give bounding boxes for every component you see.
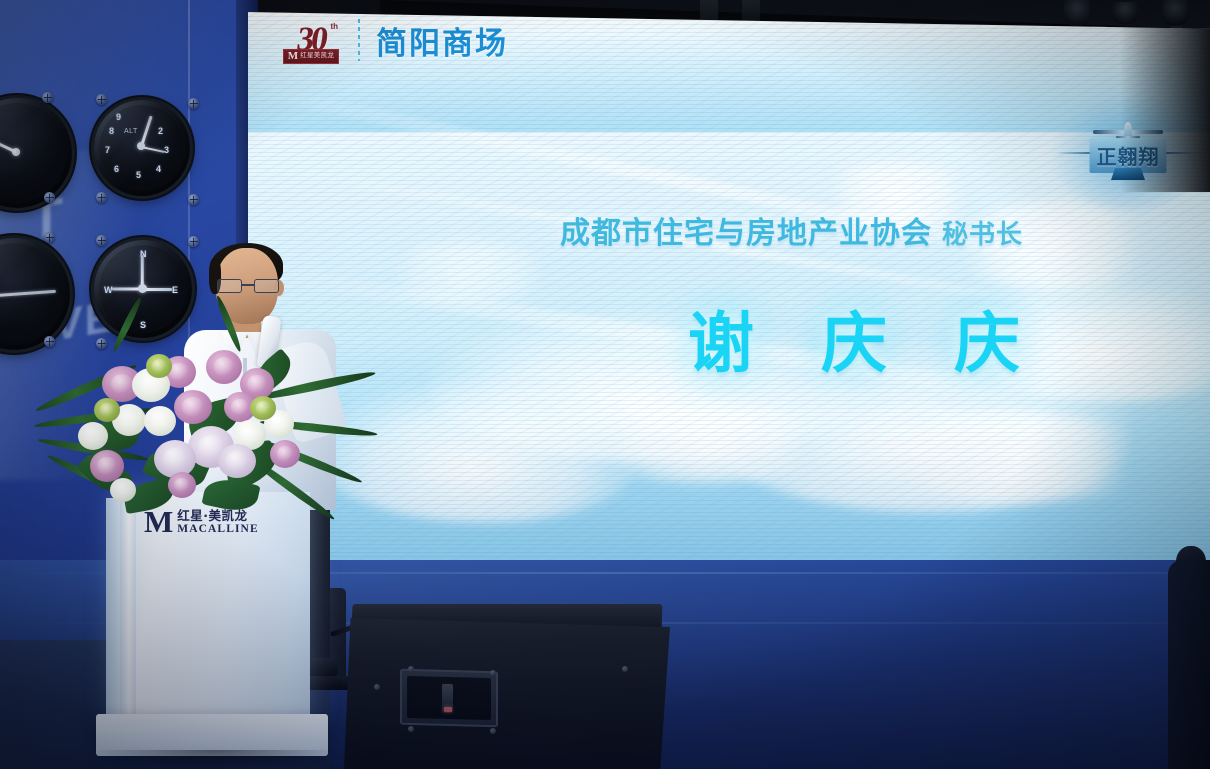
glasses-icon: [217, 279, 279, 293]
monitor-screw: [408, 726, 414, 732]
cloud: [868, 412, 1168, 502]
glasses-bridge: [242, 284, 254, 286]
rose-bloom: [168, 472, 196, 498]
panel-screw: [42, 92, 53, 103]
podium-shadow: [96, 750, 336, 768]
panel-screw: [44, 192, 55, 203]
glasses-lens: [217, 279, 242, 293]
brand-letter-m: M: [288, 51, 298, 62]
gauge-glass: [94, 240, 192, 338]
stage-light-fixture: [1064, 0, 1090, 26]
panel-screw: [96, 94, 107, 105]
white-bloom: [144, 406, 176, 436]
glasses-lens: [254, 279, 279, 293]
white-bloom: [110, 478, 136, 502]
panel-screw: [188, 98, 199, 109]
podium: M 红星·美凯龙 MACALLINE: [96, 492, 328, 769]
filler-bloom: [250, 396, 276, 420]
monitor-horn-interior: [407, 676, 491, 720]
led-screen: 30 th M 红星美凯龙 简阳商场: [248, 12, 1210, 594]
filler-bloom: [94, 398, 120, 422]
panel-screw: [44, 232, 55, 243]
speaker-role: 秘书长: [942, 220, 1023, 250]
monitor-screw: [490, 670, 496, 676]
screen-edge-shadow: [1120, 12, 1210, 192]
led-screen-content: 30 th M 红星美凯龙 简阳商场: [248, 12, 1210, 577]
rose-bloom: [90, 450, 124, 482]
stage-monitor-speaker: [344, 604, 670, 769]
rose-bloom: [206, 350, 242, 384]
anniversary-superscript: th: [330, 22, 338, 31]
anniversary-brand-band: M 红星美凯龙: [283, 49, 339, 64]
foreground-person-body: [1168, 560, 1210, 769]
speaker-organization: 成都市住宅与房地产业协会: [560, 216, 932, 251]
monitor-indicator-led: [444, 707, 452, 712]
panel-screw: [96, 192, 107, 203]
stage-scene: LIVE T ALT 8 2 7 3 6 4 5 9 N E S W: [0, 0, 1210, 769]
monitor-screw: [622, 666, 628, 672]
flower-arrangement: [28, 332, 378, 532]
panel-screw: [96, 235, 107, 246]
monitor-screw: [490, 728, 496, 734]
panel-screw: [188, 236, 199, 247]
anniversary-logo: 30 th M 红星美凯龙: [280, 14, 342, 66]
header-divider: [358, 19, 360, 61]
cloud: [578, 402, 838, 482]
stage-light-fixture: [1162, 0, 1188, 26]
brand-name-cn: 红星美凯龙: [300, 53, 334, 60]
panel-screw: [188, 194, 199, 205]
stage-light-fixture: [1112, 2, 1138, 24]
rose-bloom: [270, 440, 300, 468]
rose-bloom: [174, 390, 212, 424]
altimeter-gauge: ALT 8 2 7 3 6 4 5 9: [94, 100, 190, 196]
filler-bloom: [146, 354, 172, 378]
event-logo-dash: [1056, 152, 1092, 154]
heading-gauge: N E S W: [94, 240, 192, 338]
speaker-organization-line: 成都市住宅与房地产业协会秘书长: [560, 208, 1023, 252]
monitor-horn: [400, 669, 498, 728]
gauge-glass: [94, 100, 190, 196]
store-title: 简阳商场: [376, 18, 508, 63]
white-bloom: [78, 422, 108, 450]
monitor-front-face: [344, 618, 670, 769]
monitor-screw: [408, 666, 414, 672]
speaker-name: 谢 庆 庆: [688, 290, 1042, 386]
cloud: [368, 242, 568, 302]
monitor-screw: [374, 684, 380, 690]
screen-header: 30 th M 红星美凯龙 简阳商场: [280, 14, 508, 66]
lily-bloom: [218, 444, 256, 478]
